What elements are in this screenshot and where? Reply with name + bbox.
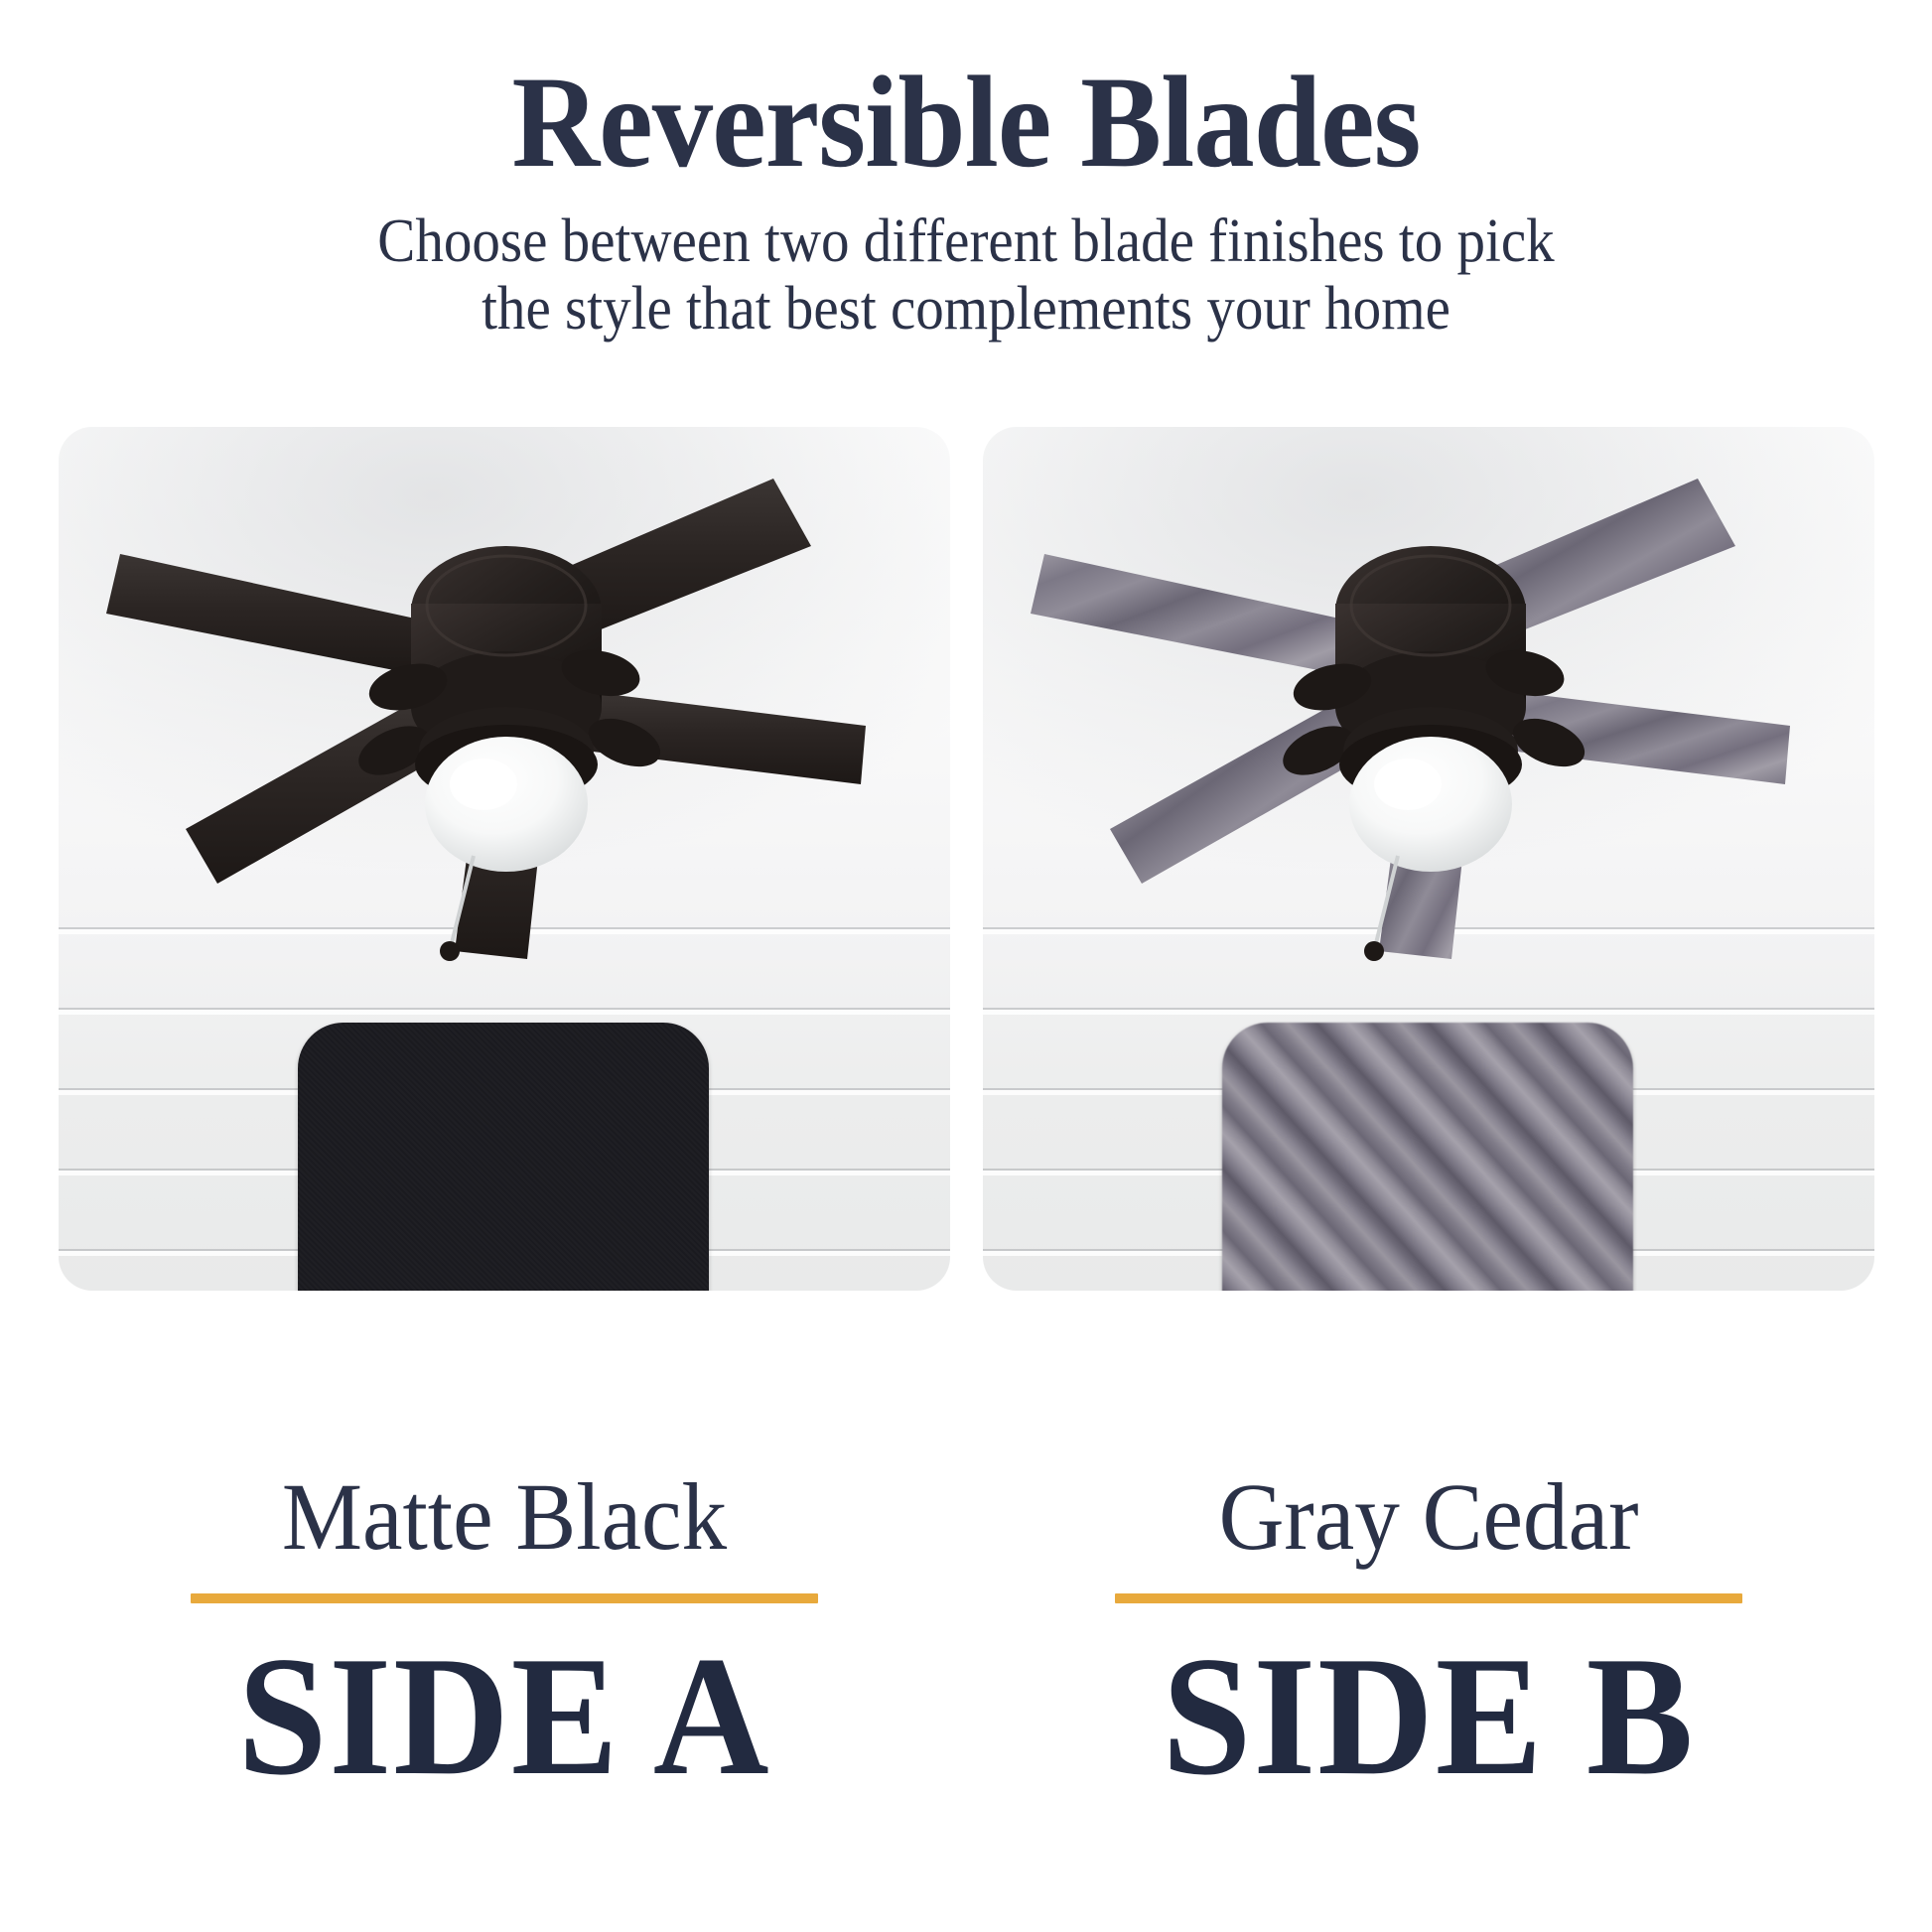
fan-light-globe	[1349, 737, 1512, 872]
finish-captions: Matte Black SIDE A Gray Cedar SIDE B	[0, 1467, 1932, 1802]
finish-panel-side-b[interactable]	[983, 427, 1874, 1449]
finish-comparison-panels	[0, 427, 1932, 1449]
side-label-b: SIDE B	[1009, 1631, 1847, 1802]
caption-side-b: Gray Cedar SIDE B	[983, 1467, 1874, 1802]
subtitle-line-1: Choose between two different blade finis…	[276, 207, 1655, 275]
page-subtitle: Choose between two different blade finis…	[276, 207, 1655, 343]
header: Reversible Blades Choose between two dif…	[0, 0, 1932, 343]
fan-blade-lower-left	[1110, 695, 1379, 884]
finish-name-side-b: Gray Cedar	[1005, 1467, 1852, 1568]
finish-panel-side-a[interactable]	[59, 427, 950, 1449]
ceiling-fan-illustration-side-b	[1001, 435, 1857, 991]
ceiling-fan-illustration-side-a	[76, 435, 932, 991]
subtitle-line-2: the style that best complements your hom…	[276, 275, 1655, 343]
gold-divider-side-b	[1115, 1593, 1742, 1603]
product-photo-side-a	[59, 427, 950, 1291]
finish-name-side-a: Matte Black	[80, 1467, 927, 1568]
product-photo-side-b	[983, 427, 1874, 1291]
caption-side-a: Matte Black SIDE A	[59, 1467, 950, 1802]
gold-divider-side-a	[191, 1593, 818, 1603]
finish-swatch-matte-black[interactable]	[298, 1023, 709, 1291]
fan-blade-upper-left	[1031, 554, 1353, 675]
fan-light-globe	[425, 737, 588, 872]
page-title: Reversible Blades	[68, 56, 1864, 190]
fan-blade-lower-left	[186, 695, 455, 884]
finish-swatch-gray-cedar[interactable]	[1222, 1023, 1633, 1291]
fan-blade-upper-left	[106, 554, 429, 675]
side-label-a: SIDE A	[84, 1631, 922, 1802]
